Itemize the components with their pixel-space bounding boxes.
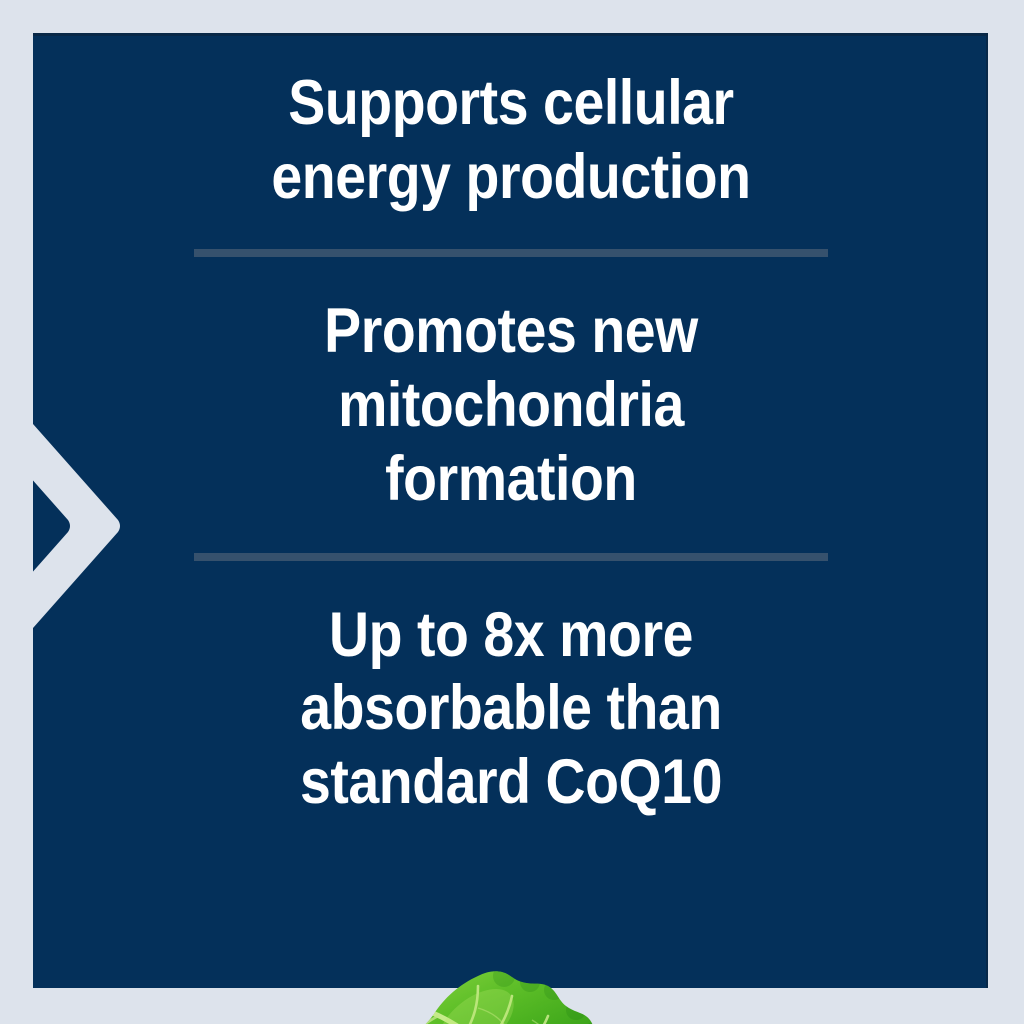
benefit-item-cellular-energy: Supports cellular energy production xyxy=(203,67,819,214)
benefit-line: Up to 8x more xyxy=(203,599,819,673)
benefits-list: Supports cellular energy production Prom… xyxy=(33,33,988,988)
product-benefits-graphic: Supports cellular energy production Prom… xyxy=(0,0,1024,1024)
benefit-line: Supports cellular xyxy=(203,67,819,141)
benefit-line: energy production xyxy=(203,141,819,215)
benefit-item-absorbability: Up to 8x more absorbable than standard C… xyxy=(203,599,819,820)
benefit-line: absorbable than xyxy=(203,672,819,746)
benefit-divider xyxy=(194,249,828,257)
benefit-item-mitochondria-formation: Promotes new mitochondria formation xyxy=(203,295,819,516)
benefit-line: formation xyxy=(203,443,819,517)
benefit-line: Promotes new xyxy=(203,295,819,369)
benefit-divider xyxy=(194,553,828,561)
benefit-line: mitochondria xyxy=(203,369,819,443)
benefit-line: standard CoQ10 xyxy=(203,746,819,820)
